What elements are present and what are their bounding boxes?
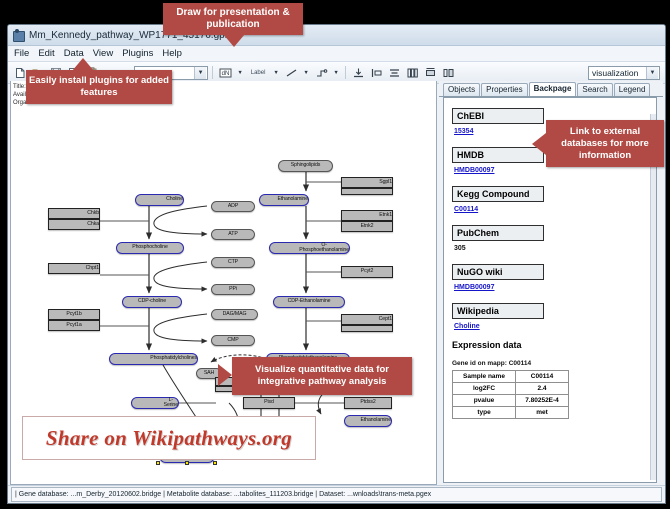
metabolite-n-sphingolipids[interactable]: Sphingolipids [278, 160, 333, 172]
gene-box-g-sgpl1b[interactable] [341, 188, 393, 195]
menu-plugins[interactable]: Plugins [122, 48, 153, 59]
metabolite-n-cdpcholine[interactable]: CDP-choline [122, 296, 182, 308]
distribute-icon[interactable] [404, 65, 420, 81]
g-chkb-label: Chkb [87, 211, 99, 216]
gene-box-g-pcyt1a[interactable]: Pcyt1a [48, 320, 100, 331]
g-pcyt1b-label: Pcyt1b [66, 312, 81, 317]
pathvisio-app-icon [12, 29, 25, 42]
metabolite-n-choline-top[interactable]: Choline [135, 194, 184, 206]
chevron-down-icon[interactable]: ▼ [194, 67, 206, 79]
database-heading-hmdb: HMDB [452, 147, 544, 163]
n-choline-top-label: Choline [166, 197, 183, 202]
metabolite-n-cdpethanolamine[interactable]: CDP-Ethanolamine [273, 296, 345, 308]
line-dropdown-icon[interactable]: ▼ [301, 65, 311, 81]
metabolite-n-ethanolamine-bottom[interactable]: Ethanolamine [344, 415, 392, 427]
database-value-pubchem: 305 [454, 245, 656, 252]
database-value-hmdb[interactable]: HMDB00097 [454, 167, 656, 174]
g-chpt1-label: Chpt1 [86, 266, 99, 271]
gene-box-g-chka[interactable]: Chka [48, 219, 100, 230]
callout-links-arrow-icon [532, 133, 546, 155]
metabolite-n-adp[interactable]: ADP [211, 201, 255, 212]
g-pcyt1a-label: Pcyt1a [66, 323, 81, 328]
expression-value: C00114 [516, 371, 569, 383]
menu-view[interactable]: View [93, 48, 113, 59]
selection-handle-6[interactable] [185, 461, 189, 465]
side-panel-tabs: Objects Properties Backpage Search Legen… [439, 81, 663, 97]
g-etnk1-label: Etnk1 [379, 213, 392, 218]
title-bar: Mm_Kennedy_pathway_WP1771_45176.gpml [8, 25, 665, 46]
visualization-combobox[interactable]: visualization ▼ [588, 66, 660, 80]
callout-draw-arrow-icon [223, 34, 245, 47]
tab-legend[interactable]: Legend [614, 83, 651, 96]
svg-text:dN: dN [221, 71, 229, 77]
interaction-dropdown-icon[interactable]: ▼ [331, 65, 341, 81]
metabolite-n-ophosphoethanolamine[interactable]: O-Phosphoethanolamine [269, 242, 350, 254]
metabolite-n-cmp[interactable]: CMP [211, 335, 255, 346]
callout-visualize-arrow-icon [218, 364, 232, 386]
expression-value: met [516, 407, 569, 419]
gene-id-label: Gene id on mapp: C00114 [452, 360, 656, 367]
align-top-icon[interactable] [350, 65, 366, 81]
gene-box-g-etnk2[interactable]: Etnk2 [341, 221, 393, 232]
n-dagmag-label: DAG/MAG [223, 312, 247, 317]
n-adp-label: ADP [228, 204, 238, 209]
n-ethanolamine-bottom-label: Ethanolamine [360, 418, 391, 423]
database-value-nugo-wiki[interactable]: HMDB00097 [454, 284, 656, 291]
menu-file[interactable]: File [14, 48, 29, 59]
tab-backpage[interactable]: Backpage [529, 82, 577, 96]
callout-plugins-arrow-icon [72, 58, 94, 71]
status-bar: | Gene database: ...m_Derby_20120602.bri… [8, 485, 665, 503]
database-heading-kegg-compound: Kegg Compound [452, 186, 544, 202]
common-size-icon[interactable] [422, 65, 438, 81]
expression-key: pvalue [453, 395, 516, 407]
n-cdpethanolamine-label: CDP-Ethanolamine [288, 299, 331, 304]
tab-properties[interactable]: Properties [481, 83, 527, 96]
database-heading-chebi: ChEBI [452, 108, 544, 124]
label-tool-icon[interactable]: Label [247, 65, 269, 81]
callout-share-wikipathways: Share on Wikipathways.org [22, 416, 316, 460]
screenshot-root: Mm_Kennedy_pathway_WP1771_45176.gpml Fil… [0, 0, 670, 509]
align-stack-icon[interactable] [386, 65, 402, 81]
n-cmp-label: CMP [227, 338, 238, 343]
align-left-icon[interactable] [368, 65, 384, 81]
metabolite-n-atp[interactable]: ATP [211, 229, 255, 240]
database-value-kegg-compound[interactable]: C00114 [454, 206, 656, 213]
g-chka-label: Chka [87, 222, 99, 227]
expression-row: pvalue7.80252E-4 [453, 395, 569, 407]
expression-key: log2FC [453, 383, 516, 395]
database-value-wikipedia[interactable]: Choline [454, 323, 656, 330]
n-sah-label: SAH [204, 371, 214, 376]
group-icon[interactable] [440, 65, 456, 81]
chevron-down-icon-visualization[interactable]: ▼ [646, 67, 658, 79]
metabolite-n-phosphocholine[interactable]: Phosphocholine [116, 242, 184, 254]
toolbar-separator-2 [345, 66, 346, 79]
expression-value: 2.4 [516, 383, 569, 395]
selection-handle-7[interactable] [213, 461, 217, 465]
gene-box-g-sgpl1[interactable]: Sgpl1 [341, 177, 393, 188]
callout-visualize-quantitative-data: Visualize quantitative data for integrat… [232, 357, 412, 395]
gene-box-g-etnk1[interactable]: Etnk1 [341, 210, 393, 221]
gene-box-g-chkb[interactable]: Chkb [48, 208, 100, 219]
gene-box-g-pisd[interactable]: Pisd [243, 397, 295, 409]
tab-objects[interactable]: Objects [443, 83, 480, 96]
callout-link-external-databases: Link to external databases for more info… [546, 120, 664, 167]
n-ppi-label: PPi [229, 287, 237, 292]
callout-easily-install-plugins: Easily install plugins for added feature… [26, 70, 172, 104]
metabolite-n-ctp[interactable]: CTP [211, 257, 255, 268]
g-etnk2-label: Etnk2 [361, 224, 374, 229]
gene-box-g-pcyt2[interactable]: Pcyt2 [341, 266, 393, 278]
expression-key: type [453, 407, 516, 419]
expression-row: typemet [453, 407, 569, 419]
menu-help[interactable]: Help [162, 48, 182, 59]
g-ptdss2-label: Ptdss2 [360, 400, 375, 405]
metabolite-n-ethanolamine-top[interactable]: Ethanolamine [259, 194, 309, 206]
database-heading-nugo-wiki: NuGO wiki [452, 264, 544, 280]
expression-data-heading: Expression data [452, 340, 656, 350]
n-sphingolipids-label: Sphingolipids [291, 163, 321, 168]
g-sgpl1-label: Sgpl1 [379, 180, 392, 185]
n-cdpcholine-label: CDP-choline [138, 299, 166, 304]
menu-bar: File Edit Data View Plugins Help [8, 46, 665, 62]
n-atp-label: ATP [228, 232, 237, 237]
metabolite-n-lserine-left[interactable]: L-Serine [131, 397, 179, 409]
n-ctp-label: CTP [228, 260, 238, 265]
n-ethanolamine-top-label: Ethanolamine [277, 197, 308, 202]
n-lserine-left-label: L-Serine [164, 398, 178, 408]
expression-row: log2FC2.4 [453, 383, 569, 395]
menu-edit[interactable]: Edit [38, 48, 54, 59]
datanode-dropdown-icon[interactable]: ▼ [235, 65, 245, 81]
metabolite-n-ppi[interactable]: PPi [211, 284, 255, 295]
expression-key: Sample name [453, 371, 516, 383]
g-pcyt2-label: Pcyt2 [361, 269, 373, 274]
side-panel-scrollbar[interactable] [650, 114, 656, 480]
expression-row: Sample nameC00114 [453, 371, 569, 383]
gene-box-g-pcyt1b[interactable]: Pcyt1b [48, 309, 100, 320]
line-icon[interactable] [283, 65, 299, 81]
n-phosphatidylcholines-label: Phosphatidylcholines [150, 356, 197, 361]
gene-box-g-chpt1[interactable]: Chpt1 [48, 263, 100, 274]
gene-box-g-cept1[interactable]: Cept1 [341, 314, 393, 325]
expression-data-table: Sample nameC00114log2FC2.4pvalue7.80252E… [452, 370, 569, 419]
callout-draw-for-publication: Draw for presentation & publication [163, 3, 303, 35]
interaction-icon[interactable] [313, 65, 329, 81]
gene-box-g-cept1b[interactable] [341, 325, 393, 332]
metabolite-n-phosphatidylcholines[interactable]: Phosphatidylcholines [109, 353, 198, 365]
n-ophosphoethanolamine-label: O-Phosphoethanolamine [299, 243, 349, 253]
gene-box-g-ptdss2[interactable]: Ptdss2 [344, 397, 392, 409]
tab-search[interactable]: Search [577, 83, 612, 96]
selection-handle-5[interactable] [156, 461, 160, 465]
label-dropdown-icon[interactable]: ▼ [271, 65, 281, 81]
database-heading-pubchem: PubChem [452, 225, 544, 241]
database-heading-wikipedia: Wikipedia [452, 303, 544, 319]
n-phosphocholine-label: Phosphocholine [132, 245, 168, 250]
datanode-icon[interactable]: dN [217, 65, 233, 81]
expression-value: 7.80252E-4 [516, 395, 569, 407]
share-wikipathways-text: Share on Wikipathways.org [46, 426, 292, 451]
visualization-value: visualization [592, 68, 638, 78]
g-cept1-label: Cept1 [379, 317, 392, 322]
status-text: | Gene database: ...m_Derby_20120602.bri… [11, 487, 662, 502]
toolbar-separator [212, 66, 213, 79]
g-pisd-label: Pisd [264, 400, 274, 405]
metabolite-n-dagmag[interactable]: DAG/MAG [211, 309, 258, 320]
